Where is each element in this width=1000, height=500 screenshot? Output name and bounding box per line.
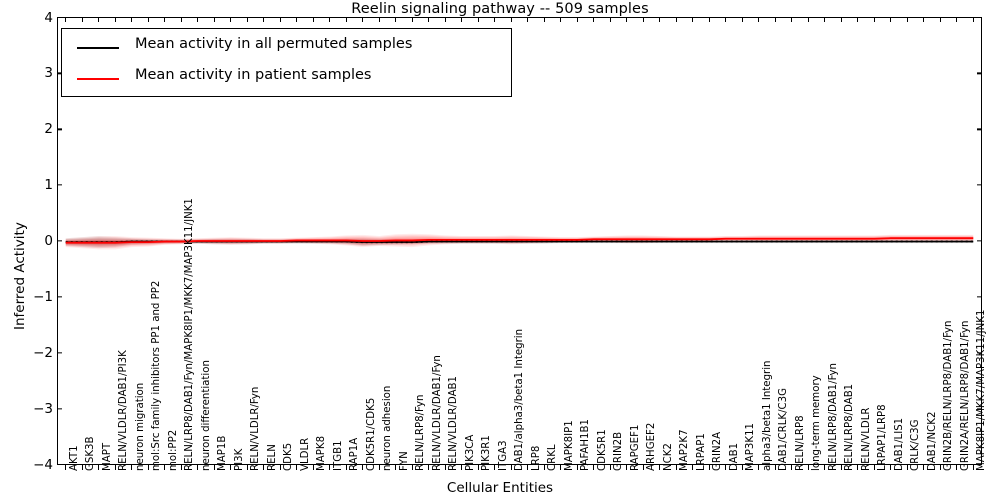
x-tick-mark — [115, 465, 116, 470]
x-tick-mark — [923, 17, 924, 22]
x-tick-mark — [82, 17, 83, 22]
x-tick-mark — [230, 17, 231, 22]
x-tick-mark — [676, 465, 677, 470]
legend-entry-patient: Mean activity in patient samples — [62, 64, 513, 94]
x-tick-mark — [692, 465, 693, 470]
x-tick-label: RAPGEF1 — [631, 425, 641, 471]
x-tick-mark — [692, 17, 693, 22]
y-tick-label: −3 — [0, 401, 61, 417]
x-tick-mark — [907, 465, 908, 470]
x-tick-mark — [280, 465, 281, 470]
x-tick-mark — [577, 465, 578, 470]
x-tick-mark — [775, 17, 776, 22]
x-tick-label: ARHGEF2 — [647, 423, 657, 471]
x-tick-mark — [181, 17, 182, 22]
x-tick-mark — [791, 17, 792, 22]
x-tick-label: RELN/LRP8/Fyn — [416, 395, 426, 471]
x-tick-mark — [181, 465, 182, 470]
x-tick-mark — [511, 465, 512, 470]
x-tick-label: FYN — [400, 451, 410, 471]
y-tick-label: −2 — [0, 345, 61, 361]
x-tick-label: DAB1 — [730, 443, 740, 471]
x-tick-mark — [560, 465, 561, 470]
x-tick-mark — [379, 465, 380, 470]
x-tick-label: PI3K — [235, 449, 245, 471]
x-tick-mark — [940, 465, 941, 470]
x-tick-mark — [758, 465, 759, 470]
x-tick-mark — [461, 17, 462, 22]
y-tick-label: 1 — [0, 177, 61, 193]
x-tick-mark — [560, 17, 561, 22]
x-tick-mark — [758, 17, 759, 22]
x-tick-label: CDK5R1 — [598, 429, 608, 471]
x-tick-label: RELN/VLDLR/DAB1/Fyn — [433, 355, 443, 471]
x-tick-mark — [82, 465, 83, 470]
x-tick-mark — [659, 465, 660, 470]
x-tick-mark — [643, 17, 644, 22]
x-tick-mark — [296, 17, 297, 22]
x-tick-mark — [280, 17, 281, 22]
legend-swatch-permuted — [77, 47, 119, 49]
x-tick-label: PIK3CA — [466, 435, 476, 471]
y-axis-title: Inferred Activity — [12, 222, 28, 330]
chart-canvas: Reelin signaling pathway -- 509 samples … — [0, 0, 1000, 500]
x-tick-mark — [593, 17, 594, 22]
x-tick-mark — [907, 17, 908, 22]
x-tick-mark — [527, 465, 528, 470]
x-tick-mark — [428, 465, 429, 470]
x-tick-mark — [131, 17, 132, 22]
x-tick-label: NCK2 — [664, 443, 674, 471]
x-tick-label: neuron migration — [136, 383, 146, 471]
x-tick-mark — [742, 465, 743, 470]
x-tick-mark — [197, 465, 198, 470]
x-tick-mark — [824, 17, 825, 22]
x-tick-mark — [808, 17, 809, 22]
x-tick-mark — [940, 17, 941, 22]
x-tick-mark — [527, 17, 528, 22]
legend-swatch-patient — [77, 78, 119, 80]
x-tick-mark — [775, 465, 776, 470]
x-tick-label: MAPK8IP1 — [565, 420, 575, 471]
x-tick-mark — [544, 17, 545, 22]
x-tick-mark — [395, 17, 396, 22]
x-tick-label: mol:Src family inhibitors PP1 and PP2 — [152, 281, 162, 471]
legend-label-patient: Mean activity in patient samples — [135, 67, 371, 83]
x-tick-mark — [247, 17, 248, 22]
x-tick-mark — [214, 465, 215, 470]
legend: Mean activity in all permuted samples Me… — [61, 28, 512, 97]
x-tick-label: CDK5R1/CDK5 — [367, 398, 377, 471]
x-tick-label: RELN/LRP8/DAB1/Fyn — [829, 363, 839, 471]
chart-title: Reelin signaling pathway -- 509 samples — [0, 1, 1000, 17]
x-tick-label: ITGA3 — [499, 440, 509, 471]
x-tick-mark — [148, 465, 149, 470]
x-tick-mark — [808, 465, 809, 470]
y-tick-label: 0 — [0, 233, 61, 249]
x-tick-label: CRLK/C3G — [911, 420, 921, 471]
x-tick-mark — [346, 17, 347, 22]
x-tick-label: long-term memory — [812, 375, 822, 471]
x-tick-mark — [973, 465, 974, 470]
x-tick-label: RELN/LRP8/DAB1/Fyn/MAPK8IP1/MKK7/MAP3K11… — [185, 198, 195, 471]
x-tick-mark — [197, 17, 198, 22]
x-tick-mark — [874, 17, 875, 22]
x-tick-label: RAP1A — [350, 438, 360, 471]
x-tick-label: alpha3/beta1 Integrin — [763, 360, 773, 471]
x-tick-label: RELN/VLDLR/DAB1/PI3K — [119, 350, 129, 471]
x-tick-mark — [478, 465, 479, 470]
x-tick-mark — [494, 465, 495, 470]
x-tick-label: LRPAP1/LRP8 — [878, 404, 888, 471]
x-tick-label: RELN/VLDLR/Fyn — [251, 387, 261, 471]
x-tick-mark — [577, 17, 578, 22]
x-tick-mark — [461, 465, 462, 470]
y-tick-label: −1 — [0, 289, 61, 305]
x-tick-mark — [742, 17, 743, 22]
x-tick-label: mol:PP2 — [169, 430, 179, 471]
x-tick-label: MAPK8IP1/MKK7/MAP3K11/JNK1 — [977, 310, 987, 471]
x-tick-mark — [923, 465, 924, 470]
x-tick-mark — [857, 17, 858, 22]
x-tick-label: GRIN2A — [713, 432, 723, 471]
x-tick-mark — [973, 17, 974, 22]
x-tick-mark — [676, 17, 677, 22]
x-tick-label: neuron adhesion — [383, 386, 393, 471]
x-tick-mark — [478, 17, 479, 22]
x-tick-mark — [956, 465, 957, 470]
x-tick-mark — [412, 465, 413, 470]
x-tick-mark — [626, 17, 627, 22]
x-tick-mark — [164, 465, 165, 470]
x-tick-mark — [230, 465, 231, 470]
y-tick-label: 4 — [0, 10, 61, 26]
x-tick-mark — [841, 465, 842, 470]
x-tick-mark — [329, 465, 330, 470]
x-tick-label: VLDLR — [301, 438, 311, 471]
x-tick-label: GRIN2A/RELN/LRP8/DAB1/Fyn — [961, 321, 971, 471]
x-tick-mark — [791, 465, 792, 470]
x-tick-mark — [412, 17, 413, 22]
x-tick-label: MAP2K7 — [680, 429, 690, 471]
x-tick-label: PIK3R1 — [482, 435, 492, 471]
x-tick-mark — [709, 465, 710, 470]
x-tick-mark — [313, 465, 314, 470]
x-tick-mark — [643, 465, 644, 470]
x-tick-mark — [593, 465, 594, 470]
x-tick-mark — [841, 17, 842, 22]
x-tick-mark — [709, 17, 710, 22]
x-tick-mark — [494, 17, 495, 22]
legend-entry-permuted: Mean activity in all permuted samples — [62, 33, 513, 63]
x-tick-mark — [445, 17, 446, 22]
x-tick-label: RELN/LRP8/DAB1 — [845, 384, 855, 471]
legend-label-permuted: Mean activity in all permuted samples — [135, 36, 412, 52]
x-tick-mark — [148, 17, 149, 22]
x-tick-mark — [544, 465, 545, 470]
x-tick-label: RELN/VLDLR — [862, 408, 872, 472]
x-tick-mark — [346, 465, 347, 470]
x-tick-mark — [511, 17, 512, 22]
x-tick-mark — [98, 465, 99, 470]
x-tick-label: DAB1/alpha3/beta1 Integrin — [515, 329, 525, 471]
x-tick-label: DAB1/LIS1 — [895, 418, 905, 471]
x-tick-label: PAFAH1B1 — [581, 419, 591, 471]
x-tick-label: CRKL — [548, 444, 558, 471]
x-tick-mark — [263, 465, 264, 470]
x-tick-mark — [65, 465, 66, 470]
x-tick-mark — [164, 17, 165, 22]
x-tick-label: DAB1/CRLK/C3G — [779, 388, 789, 471]
x-tick-label: LRP8 — [532, 446, 542, 471]
x-tick-label: GRIN2B/RELN/LRP8/DAB1/Fyn — [944, 320, 954, 471]
x-tick-label: MAPK8 — [317, 436, 327, 471]
x-axis-title: Cellular Entities — [0, 480, 1000, 496]
x-tick-mark — [725, 465, 726, 470]
x-tick-mark — [247, 465, 248, 470]
x-tick-mark — [956, 17, 957, 22]
y-tick-label: 2 — [0, 121, 61, 137]
x-tick-label: RELN/VLDLR/DAB1 — [449, 376, 459, 471]
y-tick-label: −4 — [0, 457, 61, 473]
x-tick-label: RELN — [268, 444, 278, 471]
x-tick-label: LRPAP1 — [697, 433, 707, 471]
x-tick-mark — [725, 17, 726, 22]
x-tick-mark — [890, 17, 891, 22]
x-tick-label: AKT1 — [70, 445, 80, 471]
x-tick-mark — [329, 17, 330, 22]
x-tick-label: GRIN2B — [614, 432, 624, 471]
x-tick-mark — [362, 465, 363, 470]
x-tick-label: MAP1B — [218, 436, 228, 471]
x-tick-mark — [115, 17, 116, 22]
x-tick-label: RELN/LRP8 — [796, 415, 806, 471]
x-tick-mark — [626, 465, 627, 470]
y-tick-label: 3 — [0, 65, 61, 81]
x-tick-mark — [428, 17, 429, 22]
x-tick-mark — [824, 465, 825, 470]
x-tick-mark — [610, 17, 611, 22]
x-tick-label: neuron differentiation — [202, 360, 212, 471]
x-tick-mark — [659, 17, 660, 22]
x-tick-mark — [362, 17, 363, 22]
x-tick-mark — [874, 465, 875, 470]
x-tick-mark — [857, 465, 858, 470]
x-tick-mark — [610, 465, 611, 470]
x-tick-mark — [296, 465, 297, 470]
x-tick-mark — [214, 17, 215, 22]
x-tick-mark — [379, 17, 380, 22]
x-tick-label: DAB1/NCK2 — [928, 412, 938, 471]
x-tick-mark — [65, 17, 66, 22]
x-tick-mark — [131, 465, 132, 470]
x-tick-mark — [263, 17, 264, 22]
x-tick-label: MAPT — [103, 443, 113, 471]
x-tick-mark — [445, 465, 446, 470]
x-tick-label: ITGB1 — [334, 440, 344, 471]
x-tick-label: CDK5 — [284, 443, 294, 471]
x-tick-label: MAP3K11 — [746, 423, 756, 471]
x-tick-mark — [313, 17, 314, 22]
x-tick-mark — [395, 465, 396, 470]
x-tick-label: GSK3B — [86, 436, 96, 471]
x-tick-mark — [890, 465, 891, 470]
x-tick-mark — [98, 17, 99, 22]
